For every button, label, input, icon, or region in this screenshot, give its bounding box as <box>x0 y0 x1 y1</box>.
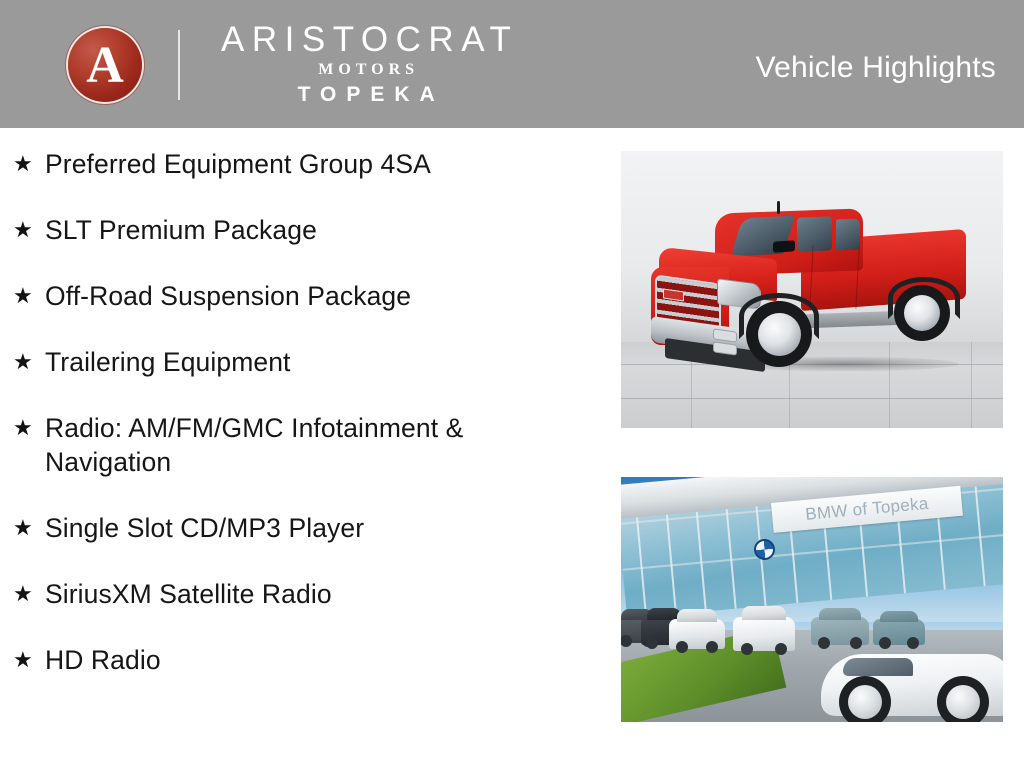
gmc-sierra-truck-illustration <box>651 197 973 379</box>
list-item-label: SiriusXM Satellite Radio <box>45 577 332 611</box>
list-item: ★ SLT Premium Package <box>0 213 600 247</box>
page-title: Vehicle Highlights <box>756 51 996 85</box>
star-bullet-icon: ★ <box>13 147 45 181</box>
logo-divider <box>178 30 180 100</box>
parked-car <box>733 617 795 651</box>
list-item-label: Radio: AM/FM/GMC Infotainment & Navigati… <box>45 411 545 479</box>
list-item-label: Preferred Equipment Group 4SA <box>45 147 431 181</box>
vehicle-highlights-list: ★ Preferred Equipment Group 4SA ★ SLT Pr… <box>0 147 600 709</box>
aristocrat-badge-icon: A <box>68 28 142 102</box>
list-item-label: Single Slot CD/MP3 Player <box>45 511 364 545</box>
list-item: ★ Radio: AM/FM/GMC Infotainment & Naviga… <box>0 411 600 479</box>
list-item: ★ Preferred Equipment Group 4SA <box>0 147 600 181</box>
list-item: ★ HD Radio <box>0 643 600 677</box>
star-bullet-icon: ★ <box>13 279 45 313</box>
brand-subtitle: MOTORS <box>313 59 419 81</box>
dealership-photo: BMW of Topeka <box>621 477 1003 722</box>
list-item: ★ Single Slot CD/MP3 Player <box>0 511 600 545</box>
list-item-label: Trailering Equipment <box>45 345 291 379</box>
brand-wordmark: ARISTOCRAT MOTORS TOPEKA <box>214 22 518 108</box>
page-header: A ARISTOCRAT MOTORS TOPEKA Vehicle Highl… <box>0 0 1024 128</box>
parked-car <box>873 619 925 645</box>
star-bullet-icon: ★ <box>13 411 45 445</box>
star-bullet-icon: ★ <box>13 213 45 247</box>
dealer-logo: A ARISTOCRAT MOTORS TOPEKA <box>68 26 518 104</box>
star-bullet-icon: ★ <box>13 643 45 677</box>
list-item-label: HD Radio <box>45 643 161 677</box>
featured-white-roadster <box>821 654 1003 716</box>
list-item: ★ SiriusXM Satellite Radio <box>0 577 600 611</box>
parked-car <box>669 619 725 649</box>
star-bullet-icon: ★ <box>13 511 45 545</box>
star-bullet-icon: ★ <box>13 345 45 379</box>
vehicle-photo <box>621 151 1003 428</box>
badge-letter: A <box>86 40 124 92</box>
list-item: ★ Off-Road Suspension Package <box>0 279 600 313</box>
list-item-label: SLT Premium Package <box>45 213 317 247</box>
list-item: ★ Trailering Equipment <box>0 345 600 379</box>
dealership-sign-text: BMW of Topeka <box>805 494 930 525</box>
parked-car <box>811 617 869 645</box>
brand-city: TOPEKA <box>288 81 445 108</box>
star-bullet-icon: ★ <box>13 577 45 611</box>
list-item-label: Off-Road Suspension Package <box>45 279 411 313</box>
brand-name: ARISTOCRAT <box>214 22 518 59</box>
